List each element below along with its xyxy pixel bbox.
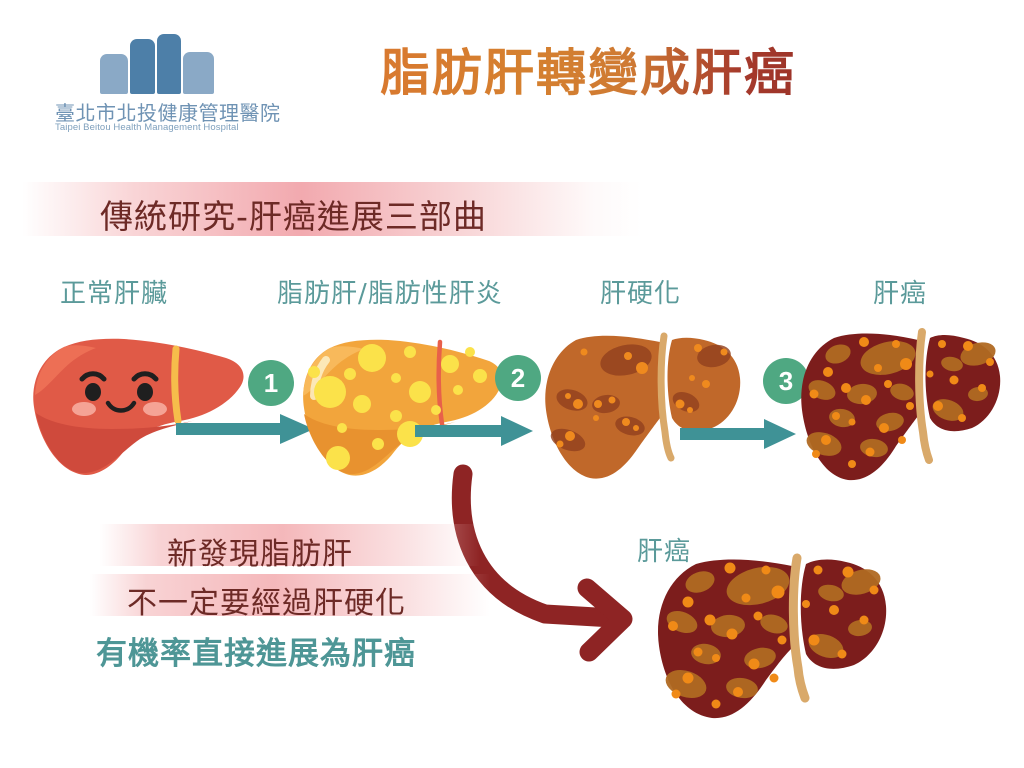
step-number-1: 1 <box>248 360 294 406</box>
conclusion-line-2: 不一定要經過肝硬化 <box>127 578 406 622</box>
logo-bar-4 <box>183 52 214 94</box>
logo-bar-2 <box>130 39 155 94</box>
stage-label-cancer: 肝癌 <box>873 273 927 310</box>
fatty-liver-illustration <box>300 330 505 478</box>
page-title: 脂肪肝轉變成肝癌 <box>380 42 880 104</box>
stage-label-normal: 正常肝臟 <box>60 273 168 310</box>
cirrhosis-liver-illustration <box>538 322 750 482</box>
cancer-liver-illustration <box>792 318 1007 484</box>
infographic-canvas: 臺北市北投健康管理醫院 Taipei Beitou Health Managem… <box>0 0 1024 768</box>
conclusion-line-1: 新發現脂肪肝 <box>167 529 353 573</box>
section-title: 傳統研究-肝癌進展三部曲 <box>100 190 487 238</box>
hospital-logo: 臺北市北投健康管理醫院 Taipei Beitou Health Managem… <box>55 34 260 142</box>
arrow-right-icon-2 <box>415 415 535 447</box>
hospital-building-icon <box>100 34 215 94</box>
stage-label-cirrhosis: 肝硬化 <box>600 273 681 310</box>
logo-bar-3 <box>157 34 181 94</box>
stage-label-fatty: 脂肪肝/脂肪性肝炎 <box>277 273 503 310</box>
cancer-liver-outcome-illustration <box>648 540 898 720</box>
logo-bar-1 <box>100 54 128 94</box>
arrow-right-icon-1 <box>176 412 316 446</box>
step-number-2: 2 <box>495 355 541 401</box>
arrow-right-icon-3 <box>680 418 798 450</box>
conclusion-line-3: 有機率直接進展為肝癌 <box>96 628 416 673</box>
hospital-name-en: Taipei Beitou Health Management Hospital <box>55 122 260 133</box>
normal-liver-illustration <box>28 325 250 480</box>
